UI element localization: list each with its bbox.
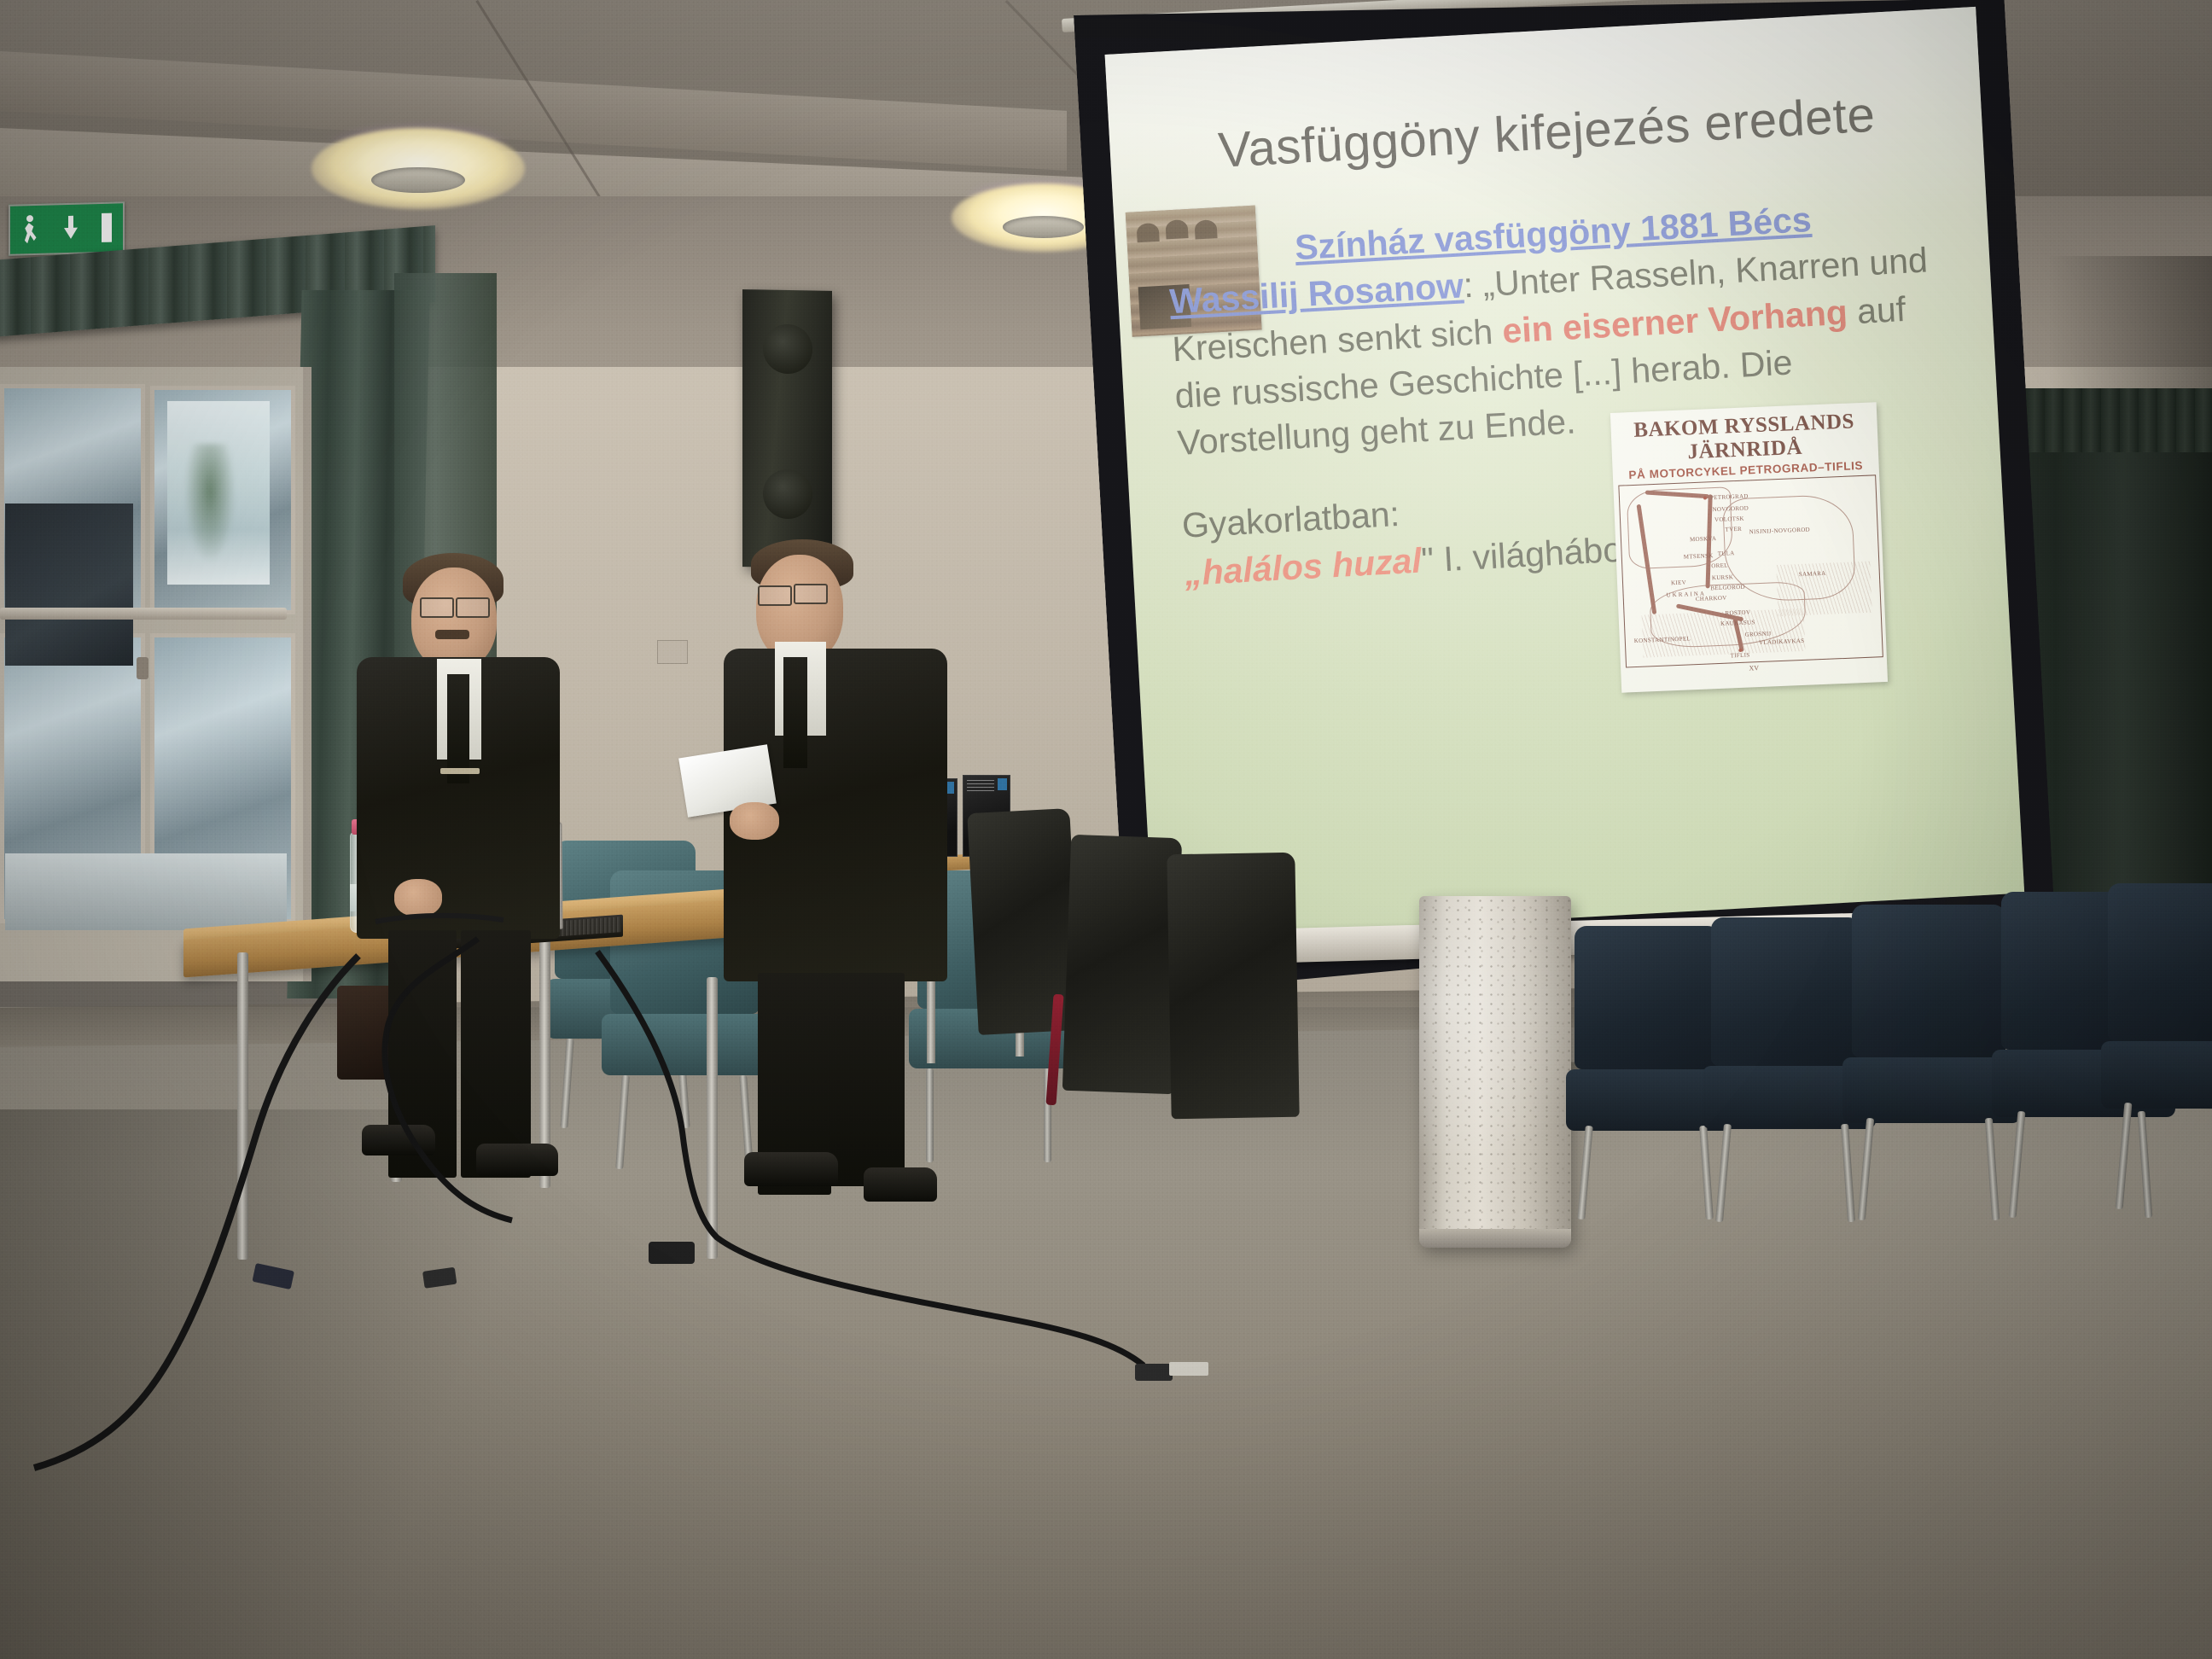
power-cables [0,0,2212,1659]
presentation-photo: Vasfüggöny kifejezés eredete Színház vas… [0,0,2212,1659]
